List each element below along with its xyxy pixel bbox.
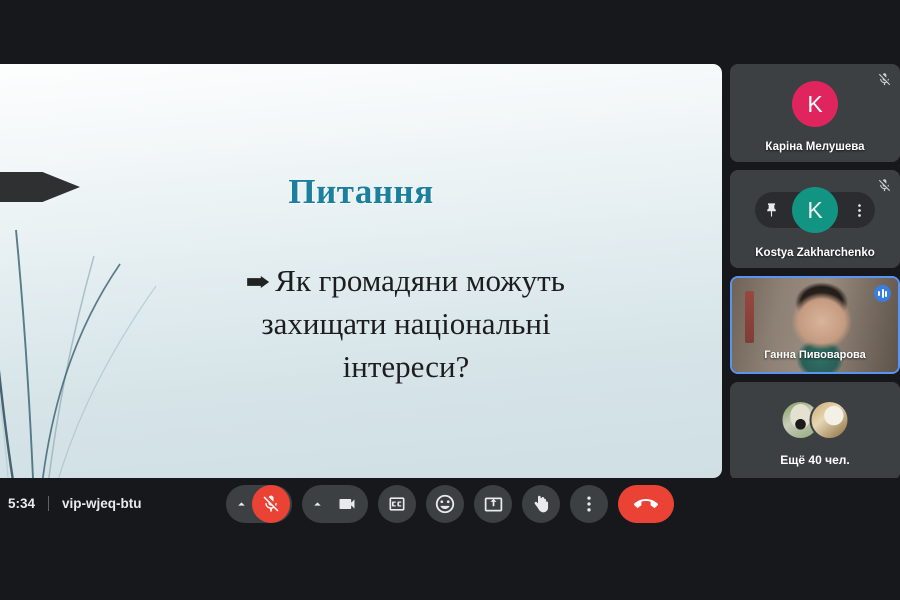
avatar-initial: K — [807, 91, 822, 118]
slide-body: Як громадяни можуть захищати національні… — [196, 260, 616, 388]
avatar-initial: K — [807, 197, 822, 224]
audio-level-icon — [874, 285, 891, 302]
avatar: K — [792, 187, 838, 233]
more-people-label: Ещё 40 чел. — [730, 453, 900, 467]
end-call-icon — [634, 492, 658, 516]
microphone-button[interactable] — [252, 485, 290, 523]
avatar: K — [792, 81, 838, 127]
mic-off-icon — [877, 178, 892, 193]
video-camera-icon — [337, 494, 357, 514]
participant-name: Каріна Мелушева — [730, 141, 900, 153]
participant-tile-karina[interactable]: K Каріна Мелушева — [730, 64, 900, 162]
bottom-bar: 5:34 vip-wjeq-btu — [0, 478, 900, 600]
more-people-tile[interactable]: Ещё 40 чел. — [730, 382, 900, 480]
chevron-up-icon[interactable] — [310, 497, 324, 511]
reactions-button[interactable] — [426, 485, 464, 523]
presentation-stage[interactable]: Питання Як громадяни можуть захищати нац… — [0, 64, 722, 478]
arrow-bullet-icon — [247, 276, 269, 288]
captions-button[interactable] — [378, 485, 416, 523]
mic-off-icon — [261, 494, 281, 514]
slide: Питання Як громадяни можуть захищати нац… — [0, 64, 722, 478]
raise-hand-button[interactable] — [522, 485, 560, 523]
more-vertical-icon — [579, 494, 599, 514]
pin-icon[interactable] — [762, 201, 780, 219]
participant-name: Kostya Zakharchenko — [730, 247, 900, 259]
leave-call-button[interactable] — [618, 485, 674, 523]
call-controls — [0, 485, 900, 523]
participant-tile-hanna[interactable]: Ганна Пивоварова — [730, 276, 900, 374]
camera-control[interactable] — [302, 485, 368, 523]
avatar — [810, 400, 850, 440]
more-people-avatars — [781, 400, 850, 440]
present-screen-icon — [483, 494, 504, 515]
present-button[interactable] — [474, 485, 512, 523]
chevron-up-icon[interactable] — [234, 497, 248, 511]
more-options-button[interactable] — [570, 485, 608, 523]
microphone-control[interactable] — [226, 485, 292, 523]
participant-rail: K Каріна Мелушева K — [730, 64, 900, 478]
slide-body-text: Як громадяни можуть захищати національні… — [261, 263, 565, 384]
participant-name: Ганна Пивоварова — [732, 349, 898, 361]
emoji-smiley-icon — [434, 493, 456, 515]
mic-off-icon — [877, 72, 892, 87]
more-options-icon[interactable] — [850, 201, 868, 219]
raised-hand-icon — [531, 494, 552, 515]
participant-tile-kostya[interactable]: K Kostya Zakharchenko — [730, 170, 900, 268]
closed-captions-icon — [387, 494, 407, 514]
camera-button[interactable] — [328, 485, 366, 523]
slide-title: Питання — [0, 172, 722, 212]
meeting-window: Питання Як громадяни можуть захищати нац… — [0, 0, 900, 600]
